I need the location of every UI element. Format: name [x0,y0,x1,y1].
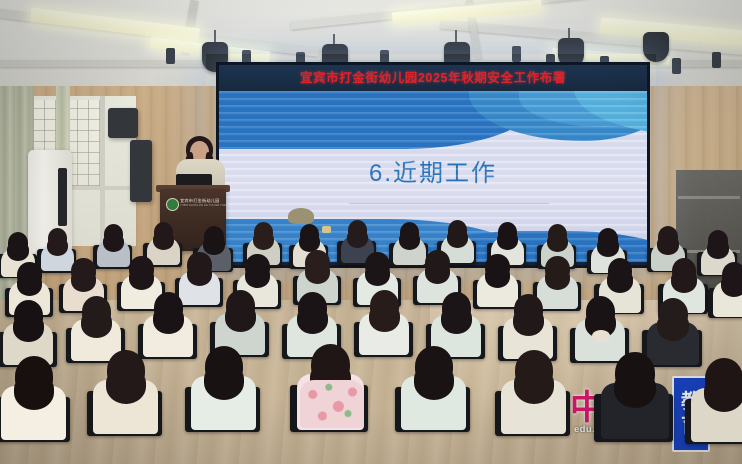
audience-head [205,346,243,387]
pendant-speaker [712,52,721,68]
audience-head [82,296,111,328]
audience-head [204,226,224,248]
audience-head [226,290,255,322]
audience-head [14,300,43,332]
audience-head [348,220,368,241]
audience-accessory-floral-dress [300,380,364,428]
audience-head [515,350,553,391]
audience-head [254,222,274,243]
slide-divider [349,203,549,204]
audience-head [48,228,68,249]
audience-head [705,358,742,399]
audience-head [129,256,153,282]
ceiling-spotlight [643,32,669,62]
audience-head [498,222,518,243]
audience-head [400,222,420,243]
audience-head [708,230,728,252]
audience-head [370,290,399,322]
audience-head [658,226,678,248]
slide-heading: 6.近期工作 [219,153,647,188]
audience-head [300,224,320,245]
audience-head [548,224,568,245]
air-conditioner-vent [58,168,67,226]
wall-speaker [108,108,138,138]
audience-head [608,258,633,284]
audience-accessory-cap [288,208,314,224]
podium-plate-subtext: YI BIN SHI DA JIN JIE YOU ER YUAN [180,204,224,207]
audience-head [298,292,327,324]
audience-head [545,256,569,282]
audience-head [514,294,543,326]
audience-head [598,228,618,250]
audience-head [17,262,41,288]
audience-head [672,258,697,284]
audience-head [586,296,615,328]
audience-head [154,222,174,243]
audience-head [15,356,53,397]
audience-head [448,220,468,241]
audience-accessory-scrunchie [592,330,610,342]
audience-head [305,250,329,276]
photograph-conference-presentation: 宜宾市打金街幼儿园2025年秋期安全工作布署 6.近期工作 宜宾市打金街幼儿园 … [0,0,742,464]
audience-head [365,252,389,278]
audience-head [415,346,453,387]
audience-head [107,350,145,391]
audience-head [425,250,449,276]
wall-speaker [130,140,152,202]
audience-accessory-hair-clip [322,226,331,233]
window-frame [100,96,105,246]
slide-body: 6.近期工作 [219,91,647,262]
pendant-speaker [672,58,681,74]
audience-head [245,254,269,280]
audience-head [8,232,28,254]
cabinet-shelf [678,196,740,199]
kindergarten-emblem-icon [166,198,179,211]
audience-head [722,262,742,288]
presentation-screen: 宜宾市打金街幼儿园2025年秋期安全工作布署 6.近期工作 [216,62,650,268]
audience-head [485,254,509,280]
audience-head [442,292,471,324]
audience-head [104,224,124,245]
audience-head [187,252,211,278]
podium-plate-text: 宜宾市打金街幼儿园 [180,198,222,203]
audience-head [615,352,654,394]
audience-head [658,298,688,330]
pendant-speaker [512,46,521,62]
audience-head [71,258,95,284]
audience-head [154,292,183,324]
slide-header-title: 宜宾市打金街幼儿园2025年秋期安全工作布署 [219,66,647,90]
pendant-speaker [166,48,175,64]
